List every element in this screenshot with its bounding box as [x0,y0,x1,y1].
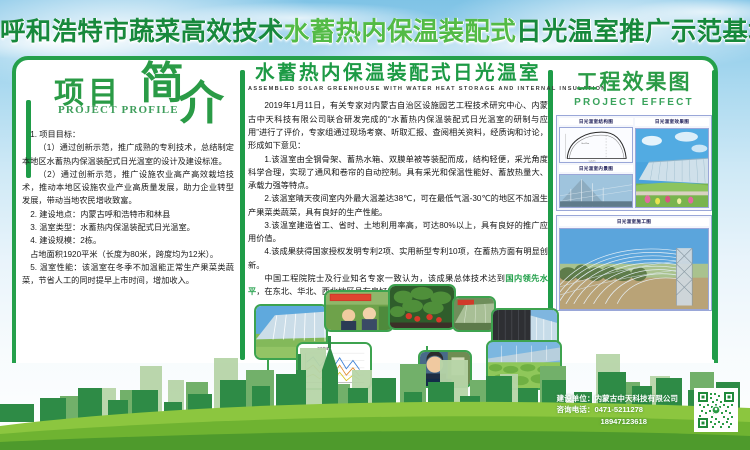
project-profile-char-jie: 介 [178,80,224,126]
left-para-1: （1）通过创新示范，推广成熟的专利技术，总结制定本地区水蓄热内保温装配式日光温室… [22,141,234,168]
center-subtitle-en: ASSEMBLED SOLAR GREENHOUSE WITH WATER HE… [248,86,548,92]
greenhouse-section-icon: H=4.5m L=12m [560,128,632,162]
footer-unit-line: 建设单位：内蒙古中天科技有限公司 [557,393,679,405]
left-para-3: 2. 建设地点：内蒙古呼和浩特市和林县 [22,208,234,221]
svg-text:H=4.5m: H=4.5m [582,143,590,145]
greenhouse-interior-small-icon [454,298,494,330]
tomato-plants-icon [390,286,454,328]
footer-phone-value: 0471-5211278 [594,405,643,414]
center-item-2: 3.该温室建造省工、省时、土地利用率高，可达80%以上，具有良好的推广应用价值。 [248,219,548,246]
thumb-structure-diagram[interactable]: H=4.5m L=12m [559,127,633,163]
conclusion-prefix: 中国工程院院士及行业知名专家一致认为，该成果总体技术达到 [264,274,505,283]
left-para-0: 1. 项目目标： [22,128,234,141]
qr-code-icon [696,390,736,430]
center-item-3: 4.该成果获得国家授权发明专利2项、实用新型专利10项，在蓄热方面有明显创新。 [248,245,548,272]
greenhouse-render-icon [636,129,708,207]
headline-part3: 日光温室推广示范基地 [516,18,750,46]
footer-unit-value: 内蒙古中天科技有限公司 [594,394,678,403]
left-column: 项目 简 介 PROJECT PROFILE 1. 项目目标： （1）通过创新示… [18,66,236,356]
thumb-interior-photo[interactable] [559,174,633,208]
left-para-6: 占地面积1920平米（长度为80米，跨度均为12米）。 [22,248,234,261]
divider-far-right [712,70,717,360]
footer-phone-label: 咨询电话： [557,405,595,414]
city-skyline-icon [0,330,750,450]
collage-photo-interior-small[interactable] [452,296,496,332]
footer-unit-label: 建设单位： [557,394,595,403]
effect-panel-bottom: 日光温室施工图 [556,215,712,311]
poster-root: 呼和浩特市蔬菜高效技术水蓄热内保温装配式日光温室推广示范基地 项目 简 介 PR… [0,0,750,450]
caption-interior: 日光温室内景图 [559,165,633,172]
caption-effect: 日光温室效果图 [635,118,709,126]
center-item-0: 1.该温室由全钢骨架、蓄热水箱、双膜单被等装配而成，结构轻便，采光角度科学合理，… [248,153,548,193]
center-body: 2019年1月11日，有关专家对内蒙古自治区设施园艺工程技术研究中心、内蒙古中天… [248,99,548,298]
left-para-7: 5. 温室性能：该温室在冬季不加温能正常生产果菜类蔬菜，节省人工的同时提早上市时… [22,261,234,288]
svg-text:L=12m: L=12m [589,161,596,162]
headline-part2: 水蓄热内保温装配式 [284,18,516,46]
collage-photo-tomatoes[interactable] [388,284,456,330]
thumb-effect-render[interactable] [635,128,709,208]
project-profile-title: 项目 简 介 PROJECT PROFILE [18,66,236,126]
center-item-1: 2.该温室晴天夜间室内外最大温差达38℃，可在最低气温-30℃的地区不加温生产果… [248,192,548,219]
center-column: 水蓄热内保温装配式日光温室 ASSEMBLED SOLAR GREENHOUSE… [248,62,548,299]
caption-build: 日光温室施工图 [559,218,709,226]
footer-phone-line2: 18947123618 [557,416,679,428]
page-title: 呼和浩特市蔬菜高效技术水蓄热内保温装配式日光温室推广示范基地 [0,11,750,48]
footer-contact: 建设单位：内蒙古中天科技有限公司 咨询电话：0471-5211278 18947… [557,393,679,428]
project-profile-en: PROJECT PROFILE [58,104,179,116]
footer-phone-value2: 18947123618 [601,417,647,426]
left-para-2: （2）通过创新示范，推广设施农业高产高效栽培技术，推动本地区设施农业产业高质量发… [22,168,234,208]
effect-panel-top: 日光温室结构图 H=4.5m L=12m 日光温 [556,115,712,211]
thumb-construction-photo[interactable] [559,228,709,310]
center-title: 水蓄热内保温装配式日光温室 [248,62,548,85]
site-visit-icon [326,292,392,330]
qr-code[interactable] [694,388,738,432]
right-column: 工程效果图 PROJECT EFFECT 日光温室结构图 H= [556,66,712,311]
city-skyline-footer [0,330,750,450]
center-intro: 2019年1月11日，有关专家对内蒙古自治区设施园艺工程技术研究中心、内蒙古中天… [248,99,548,152]
interior-frame-icon [560,175,632,207]
left-para-5: 4. 建设规模：2栋。 [22,234,234,247]
headline-part1: 呼和浩特市蔬菜高效技术 [0,18,284,46]
collage-photo-visit[interactable] [324,290,394,332]
caption-structure: 日光温室结构图 [559,118,633,125]
footer-phone-line: 咨询电话：0471-5211278 [557,404,679,416]
left-para-4: 3. 温室类型：水蓄热内保温装配式日光温室。 [22,221,234,234]
project-effect-en: PROJECT EFFECT [556,97,712,108]
construction-frame-icon [560,229,708,309]
project-effect-cn: 工程效果图 [556,66,712,96]
project-profile-body: 1. 项目目标： （1）通过创新示范，推广成熟的专利技术，总结制定本地区水蓄热内… [22,128,234,287]
